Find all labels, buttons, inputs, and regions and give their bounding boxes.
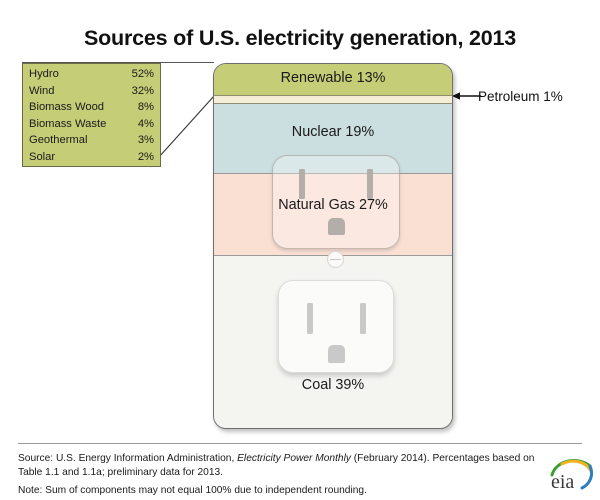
legend-item-label: Biomass Waste	[29, 116, 106, 133]
band-label-renewable: Renewable 13%	[214, 70, 452, 86]
svg-text:eia: eia	[551, 471, 574, 493]
legend-item-value: 4%	[138, 116, 154, 133]
rounding-note: Note: Sum of components may not equal 10…	[18, 484, 538, 498]
socket-ground-pin	[328, 218, 345, 235]
band-label-petroleum: Petroleum 1%	[478, 89, 563, 104]
outlet-plate-chart: Renewable 13% Nuclear 19% Natural Gas 27…	[213, 63, 453, 429]
legend-item-label: Geothermal	[29, 132, 87, 149]
legend-item-value: 2%	[138, 149, 154, 166]
legend-item-value: 8%	[138, 99, 154, 116]
infographic-page: Sources of U.S. electricity generation, …	[0, 0, 600, 500]
legend-item-value: 32%	[132, 83, 154, 100]
legend-row: Geothermal 3%	[29, 132, 154, 149]
legend-row: Hydro 52%	[29, 66, 154, 83]
screw-slot	[330, 259, 341, 261]
outlet-screw-icon	[327, 251, 344, 268]
band-petroleum	[214, 96, 452, 104]
legend-item-label: Biomass Wood	[29, 99, 104, 116]
band-label-coal: Coal 39%	[214, 377, 452, 393]
legend-item-label: Hydro	[29, 66, 59, 83]
legend-row: Biomass Waste 4%	[29, 116, 154, 133]
socket-slot-left	[299, 169, 305, 199]
lower-outlet-socket-icon	[278, 280, 394, 373]
renewable-breakdown-legend: Hydro 52% Wind 32% Biomass Wood 8% Bioma…	[22, 63, 161, 167]
legend-item-value: 3%	[138, 132, 154, 149]
source-publication-title: Electricity Power Monthly	[237, 453, 351, 464]
legend-item-label: Solar	[29, 149, 55, 166]
legend-row: Solar 2%	[29, 149, 154, 166]
socket-slot-right	[360, 303, 366, 334]
eia-logo-icon: eia	[548, 455, 594, 495]
source-text-part1: Source: U.S. Energy Information Administ…	[18, 453, 237, 464]
socket-slot-right	[367, 169, 373, 199]
band-label-nuclear: Nuclear 19%	[214, 124, 452, 140]
socket-slot-left	[307, 303, 313, 334]
legend-row: Wind 32%	[29, 83, 154, 100]
legend-item-label: Wind	[29, 83, 55, 100]
legend-row: Biomass Wood 8%	[29, 99, 154, 116]
footer-divider	[18, 443, 582, 444]
band-label-natural-gas: Natural Gas 27%	[214, 197, 452, 213]
page-title: Sources of U.S. electricity generation, …	[0, 26, 600, 51]
legend-item-value: 52%	[132, 66, 154, 83]
source-note: Source: U.S. Energy Information Administ…	[18, 452, 538, 480]
socket-ground-pin	[328, 345, 345, 363]
